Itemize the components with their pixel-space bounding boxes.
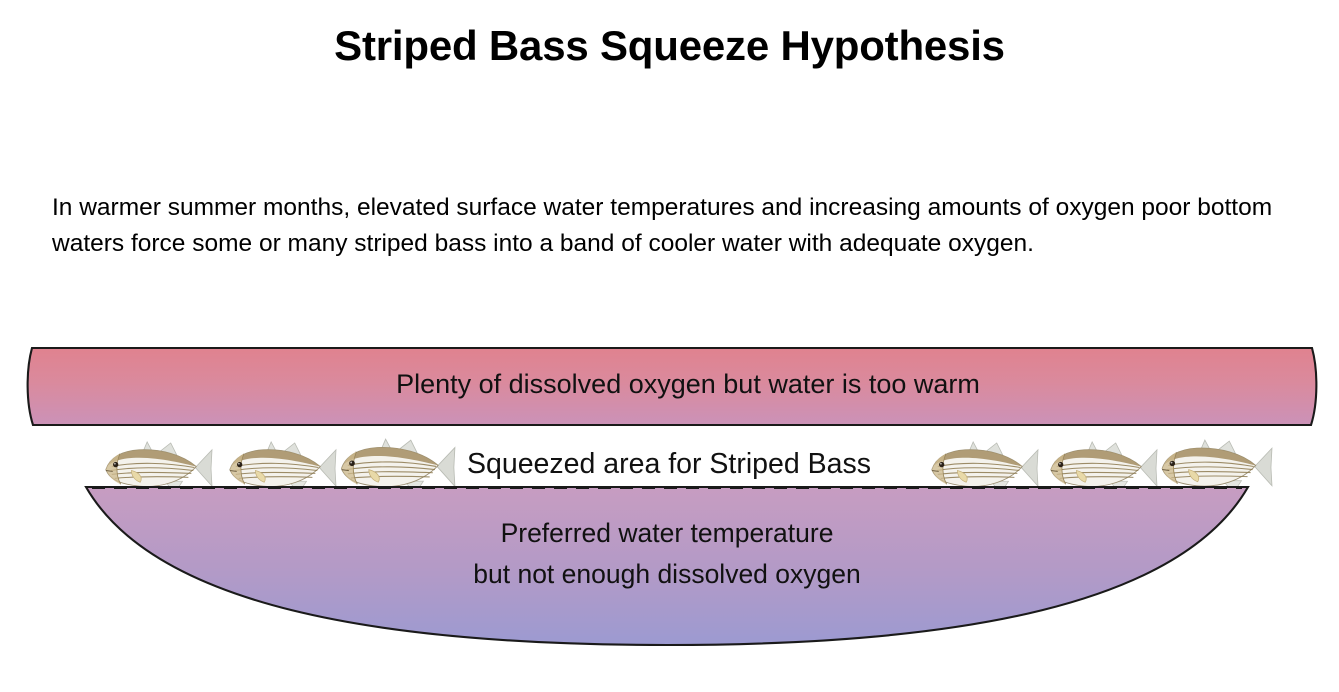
warm-layer-label: Plenty of dissolved oxygen but water is … (396, 369, 980, 399)
striped-bass-squeeze-diagram: Plenty of dissolved oxygen but water is … (0, 335, 1339, 665)
striped-bass-fish-icon (342, 439, 455, 494)
cold-layer-label-line-2: but not enough dissolved oxygen (473, 559, 861, 589)
striped-bass-fish-icon (230, 442, 336, 493)
page-title: Striped Bass Squeeze Hypothesis (0, 22, 1339, 70)
intro-paragraph: In warmer summer months, elevated surfac… (52, 190, 1297, 261)
cold-layer-label-line-1: Preferred water temperature (501, 518, 834, 548)
fish-group-left (106, 439, 455, 494)
striped-bass-fish-icon (1051, 442, 1157, 493)
striped-bass-fish-icon (1162, 440, 1272, 493)
squeeze-layer-label: Squeezed area for Striped Bass (467, 448, 871, 480)
striped-bass-fish-icon (106, 442, 212, 493)
squeeze-layer: Squeezed area for Striped Bass (106, 439, 1272, 494)
striped-bass-fish-icon (932, 442, 1038, 493)
fish-group-right (932, 440, 1272, 493)
